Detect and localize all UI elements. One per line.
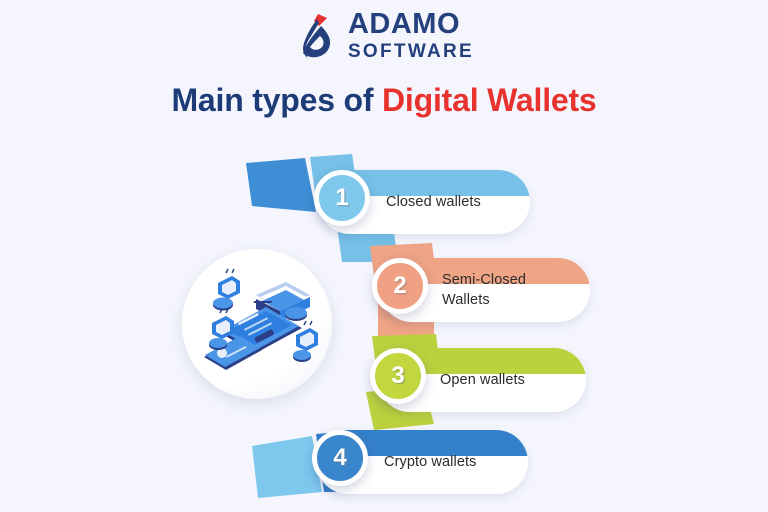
item-label-4: Crypto wallets: [384, 430, 524, 494]
item-number-3: 3: [391, 362, 404, 390]
list-item-1[interactable]: Closed wallets 1: [318, 170, 530, 234]
ribbon-tail-1: [246, 158, 316, 212]
ribbon-tail-4: [252, 436, 322, 498]
item-number-1: 1: [335, 184, 348, 212]
item-label-2-line2: Wallets: [442, 290, 588, 310]
list-item-3[interactable]: Open wallets 3: [378, 348, 586, 412]
list-item-4[interactable]: Crypto wallets 4: [316, 430, 528, 494]
digital-wallet-isometric-illustration-icon: [182, 249, 332, 399]
item-label-1-line1: Closed wallets: [386, 192, 526, 212]
item-label-2: Semi-Closed Wallets: [442, 258, 588, 322]
item-number-4: 4: [333, 444, 346, 472]
item-number-badge-4[interactable]: 4: [312, 430, 368, 486]
item-label-3: Open wallets: [440, 348, 582, 412]
item-label-1: Closed wallets: [386, 170, 526, 234]
item-label-4-line1: Crypto wallets: [384, 452, 524, 472]
list-item-2[interactable]: Semi-Closed Wallets 2: [380, 258, 590, 322]
item-number-2: 2: [393, 272, 406, 300]
item-number-badge-3[interactable]: 3: [370, 348, 426, 404]
item-label-3-line1: Open wallets: [440, 370, 582, 390]
illustration-medallion: [182, 249, 332, 399]
infographic-diagram: Closed wallets 1 Semi-Closed Wallets 2 O…: [0, 0, 768, 512]
item-label-2-line1: Semi-Closed: [442, 270, 588, 290]
item-number-badge-1[interactable]: 1: [314, 170, 370, 226]
item-number-badge-2[interactable]: 2: [372, 258, 428, 314]
